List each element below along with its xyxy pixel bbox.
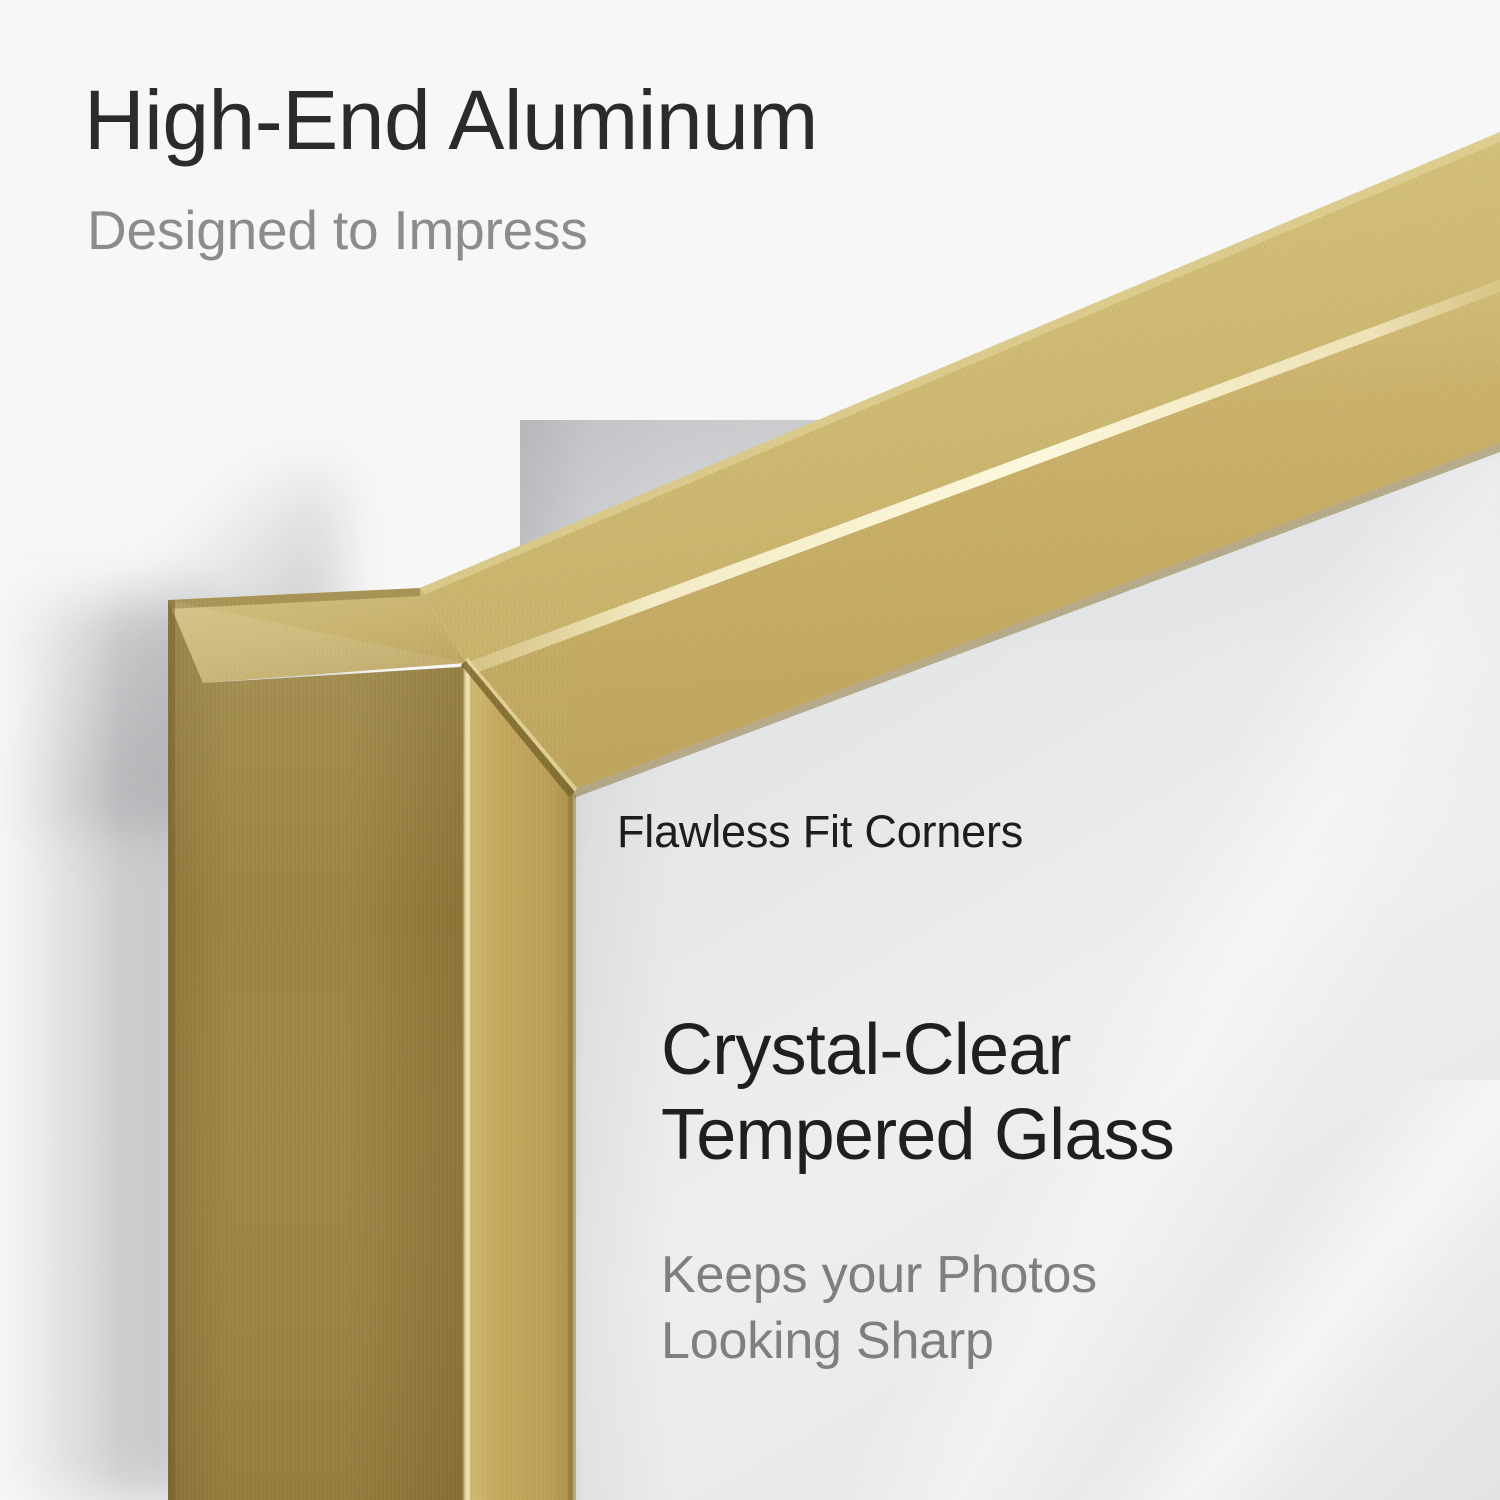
callout-tempered-glass-line2: Tempered Glass [661,1093,1174,1178]
callout-tempered-glass-line1: Crystal-Clear [661,1008,1174,1093]
page-subtitle: Designed to Impress [87,198,588,262]
glass-edge-shading-top [520,420,1500,640]
callout-flawless-fit-corners: Flawless Fit Corners [617,806,1023,858]
callout-tempered-glass-sub-line2: Looking Sharp [661,1309,1097,1375]
callout-tempered-glass: Crystal-Clear Tempered Glass [661,1008,1174,1178]
page-title: High-End Aluminum [84,72,818,169]
callout-tempered-glass-sub: Keeps your Photos Looking Sharp [661,1243,1097,1374]
product-feature-image: High-End Aluminum Designed to Impress Fl… [0,0,1500,1500]
callout-tempered-glass-sub-line1: Keeps your Photos [661,1243,1097,1309]
shadow-fade [0,560,120,1500]
